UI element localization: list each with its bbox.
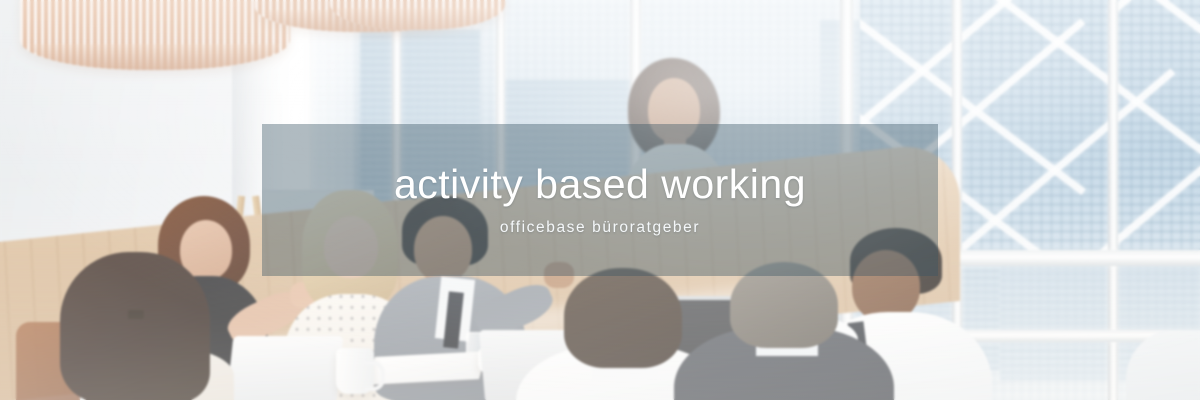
laptop-lid [227, 336, 344, 400]
hair [60, 252, 210, 400]
hero-banner: activity based working officebase bürora… [0, 0, 1200, 400]
caption-overlay: activity based working officebase bürora… [262, 124, 938, 276]
hair-clip [128, 310, 144, 319]
pendant-lamp-left [20, 0, 290, 70]
page-subtitle: officebase büroratgeber [500, 219, 700, 237]
lamp-shade [330, 0, 505, 30]
man-dark-suit-back-right [690, 262, 880, 400]
partial-person-far-right [1126, 330, 1200, 400]
coffee-mug [336, 348, 374, 394]
pendant-lamp-right [330, 0, 505, 30]
laptop [230, 336, 340, 400]
shoulder [1126, 330, 1200, 400]
lamp-shade [20, 0, 290, 70]
hair [564, 268, 682, 368]
page-title: activity based working [394, 163, 806, 206]
woman-dark-hair-foreground-left [50, 252, 230, 400]
